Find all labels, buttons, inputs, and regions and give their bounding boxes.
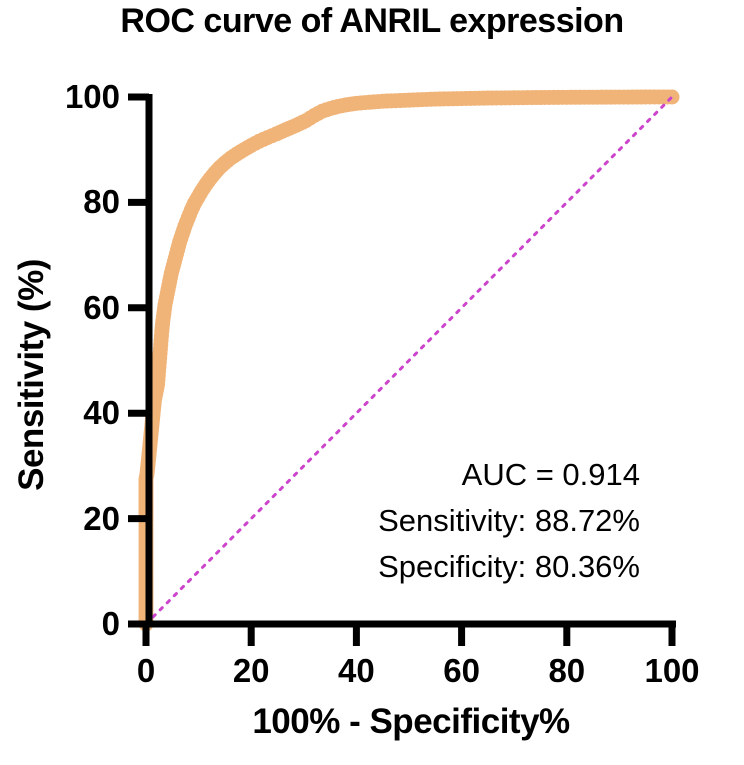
statistics-annotation: AUC = 0.914 Sensitivity: 88.72% Specific… bbox=[378, 452, 640, 590]
specificity-value: Specificity: 80.36% bbox=[378, 544, 640, 590]
x-tick-label: 20 bbox=[233, 652, 270, 690]
x-axis-title: 100% - Specificity% bbox=[146, 702, 676, 742]
x-tick-label: 100 bbox=[644, 652, 699, 690]
x-tick-label: 40 bbox=[338, 652, 375, 690]
y-tick-label: 100 bbox=[0, 78, 120, 116]
x-tick-label: 0 bbox=[137, 652, 155, 690]
y-tick-label: 0 bbox=[0, 605, 120, 643]
y-axis-title: Sensitivity (%) bbox=[12, 195, 52, 555]
sensitivity-value: Sensitivity: 88.72% bbox=[378, 498, 640, 544]
x-tick-label: 80 bbox=[548, 652, 585, 690]
auc-value: AUC = 0.914 bbox=[378, 452, 640, 498]
roc-chart-figure: ROC curve of ANRIL expression 0204060801… bbox=[0, 0, 744, 765]
x-tick-label: 60 bbox=[443, 652, 480, 690]
